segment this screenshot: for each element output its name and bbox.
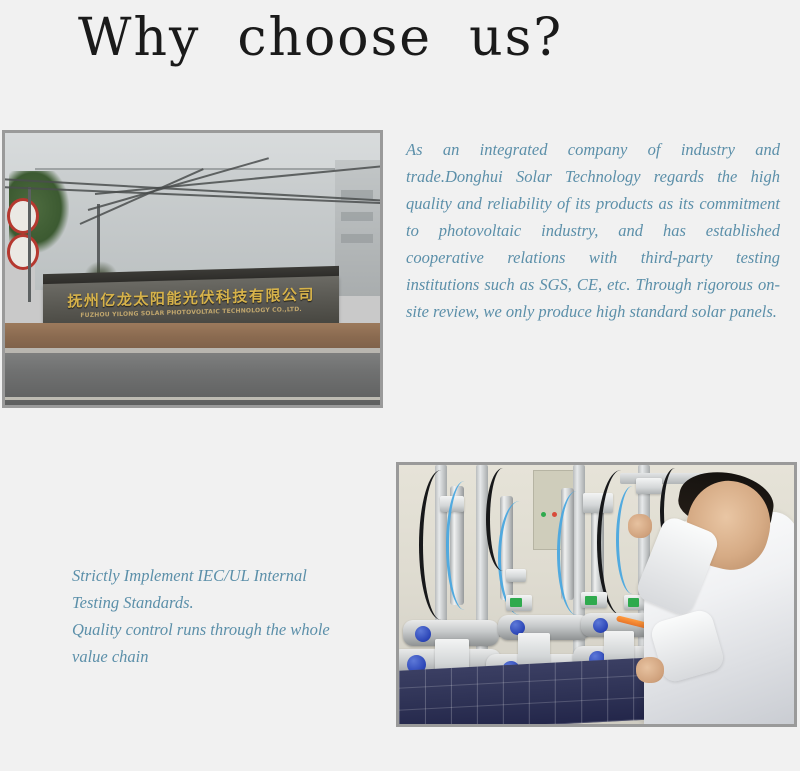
indicator-led [541,512,546,517]
technician-hand-lower [636,657,664,683]
road-sign-round [7,234,39,270]
quality-statement: Strictly Implement IEC/UL Internal Testi… [72,562,402,670]
utility-pole [28,187,31,301]
power-cable [486,468,520,572]
testing-lab-photo [396,462,797,727]
building-window [341,212,373,222]
asphalt-road [5,353,380,405]
factory-sign-photo-content: 抚州亿龙太阳能光伏科技有限公司 FUZHOU YILONG SOLAR PHOT… [5,133,380,405]
indicator-led [552,512,557,517]
factory-sign-photo: 抚州亿龙太阳能光伏科技有限公司 FUZHOU YILONG SOLAR PHOT… [2,130,383,408]
testing-lab-photo-content [399,465,794,724]
quality-line-3: Quality control runs through the whole [72,616,402,643]
quality-line-4: value chain [72,643,402,670]
side-building [335,160,380,296]
building-window [341,234,373,244]
technician-hand-upper [628,514,652,537]
road-marking [5,397,380,400]
valve-indicator [585,596,597,605]
valve-indicator [628,598,639,607]
quality-line-1: Strictly Implement IEC/UL Internal [72,562,402,589]
quality-line-2: Testing Standards. [72,589,402,616]
intro-paragraph: As an integrated company of industry and… [406,136,780,325]
dirt-ground [5,323,380,350]
actuator-end-cap [415,626,431,642]
road-sign-round [7,198,39,234]
power-cable [419,470,463,620]
valve-indicator [510,598,522,607]
page-title: Why choose us? [78,6,563,71]
why-choose-us-page: Why choose us? 抚州亿龙太阳能光伏科技有 [0,0,800,771]
